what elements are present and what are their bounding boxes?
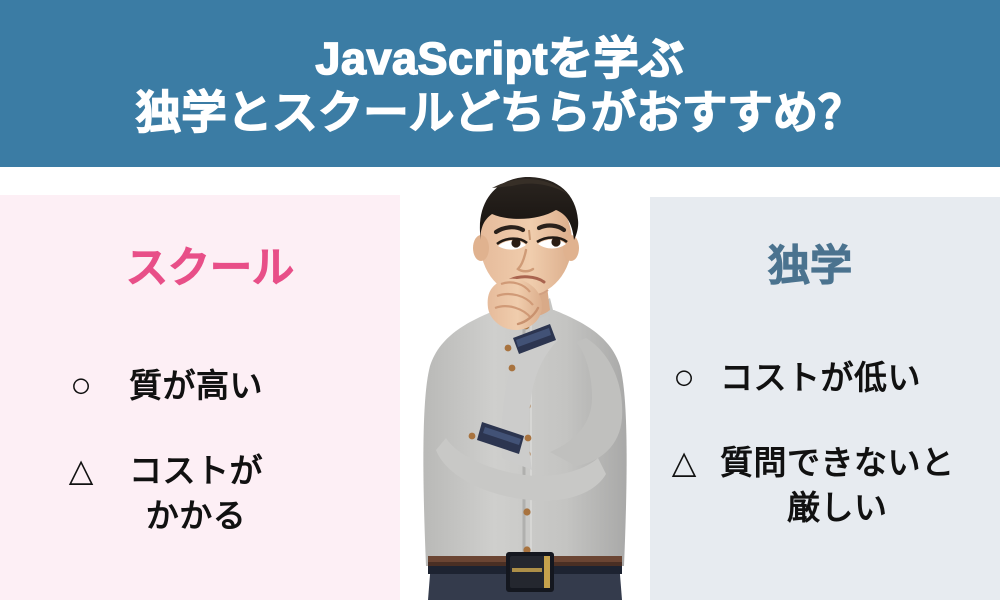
list-item: △ 質問できないと 厳しい	[620, 440, 1000, 530]
infographic-canvas: JavaScriptを学ぶ 独学とスクールどちらがおすすめ？ スクール ○ 質が…	[0, 0, 1000, 600]
list-item-label: コストが かかる	[129, 448, 263, 538]
header-title-line-1: JavaScriptを学ぶ	[315, 32, 684, 85]
panel-school-title: スクール	[0, 247, 420, 289]
list-item-label: 質問できないと 厳しい	[720, 440, 955, 530]
triangle-mark-icon: △	[658, 440, 710, 484]
list-item-label: コストが低い	[720, 355, 921, 400]
header-title-line-2: 独学とスクールどちらがおすすめ？	[136, 86, 864, 139]
panel-self-study-bullet-list: ○ コストが低い △ 質問できないと 厳しい	[620, 355, 1000, 570]
list-item: ○ 質が高い	[0, 363, 420, 408]
panel-school: スクール ○ 質が高い △ コストが かかる	[0, 195, 420, 600]
panel-self-study-title: 独学	[620, 245, 1000, 287]
panel-school-bullet-list: ○ 質が高い △ コストが かかる	[0, 363, 420, 578]
thinking-man-photo	[400, 170, 650, 600]
list-item: ○ コストが低い	[620, 355, 1000, 400]
panel-self-study: 独学 ○ コストが低い △ 質問できないと 厳しい	[620, 197, 1000, 600]
circle-mark-icon: ○	[55, 363, 107, 407]
list-item-label: 質が高い	[129, 363, 263, 408]
triangle-mark-icon: △	[55, 448, 107, 492]
header-banner: JavaScriptを学ぶ 独学とスクールどちらがおすすめ？	[0, 0, 1000, 167]
circle-mark-icon: ○	[658, 355, 710, 399]
list-item: △ コストが かかる	[0, 448, 420, 538]
